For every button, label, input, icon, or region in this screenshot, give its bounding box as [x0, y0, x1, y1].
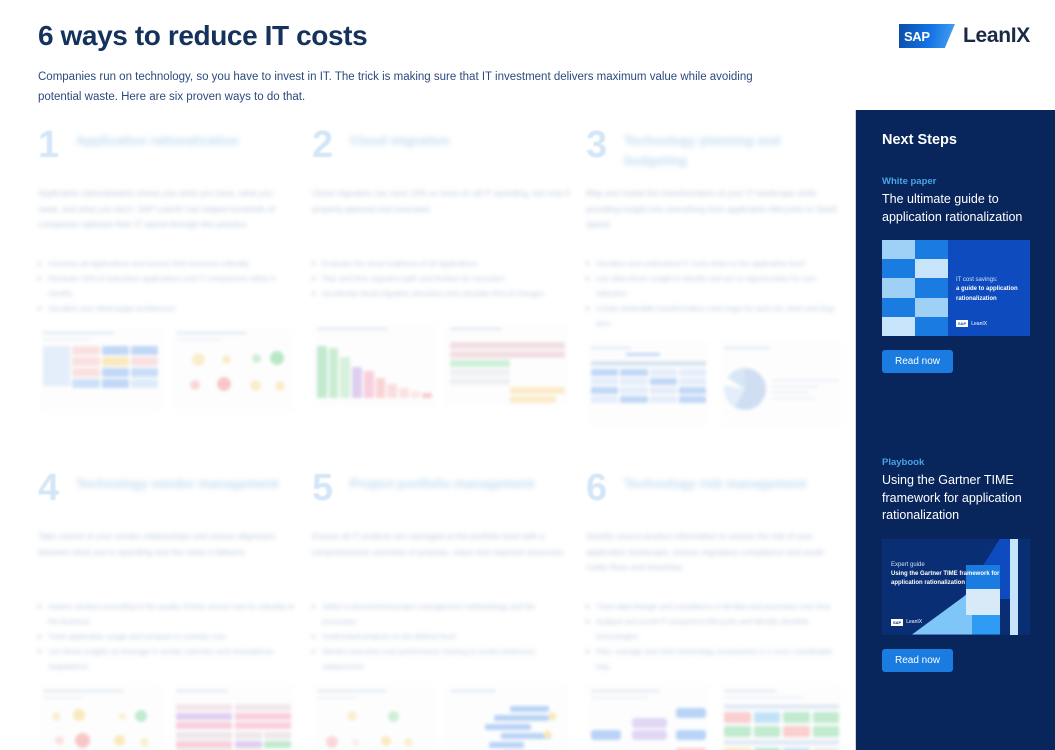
list-item: Create actionable transformation road ma… — [586, 301, 844, 331]
card-header: 2 Cloud migration — [312, 128, 570, 174]
list-item: Accelerate cloud migration decisions and… — [312, 286, 570, 301]
colored-table-chart — [445, 322, 570, 408]
card-bullet-list: Track data lineage and compliance of all… — [586, 599, 844, 674]
card-body-text: Quickly source product information to as… — [586, 529, 844, 587]
page-header: 6 ways to reduce IT costs Companies run … — [38, 20, 838, 107]
thumb-kicker: IT cost savings: — [956, 277, 998, 283]
list-item: Plan, manage and retire technology compo… — [586, 644, 844, 674]
thumbnail-logo: SAP LeanIX — [956, 320, 987, 327]
card-header: 4 Technology vendor management — [38, 471, 296, 517]
read-now-button-white-paper[interactable]: Read now — [882, 350, 953, 373]
list-item: Track data lineage and compliance of all… — [586, 599, 844, 614]
card-thumbnails — [38, 684, 296, 750]
card-title: Cloud migration — [350, 128, 450, 151]
card-thumbnails — [586, 341, 844, 427]
risk-flow-diagram — [586, 684, 711, 750]
thumb-kicker: Expert guide — [891, 562, 925, 568]
list-item: Plan and time migration path and timelin… — [312, 271, 570, 286]
risk-tile-board — [719, 684, 844, 750]
list-item: Track application usage and compare to c… — [38, 629, 296, 644]
card-number: 1 — [38, 128, 62, 162]
card-body-text: Ensure all IT projects are managed at th… — [312, 529, 570, 587]
project-bubble-chart — [312, 684, 437, 750]
card-bullet-list: Visualize and understand IT costs down t… — [586, 256, 844, 331]
list-item: Understand projects on the defined level — [312, 629, 570, 644]
list-item: Analyze and avoid IT component lifecycle… — [586, 614, 844, 644]
card-body-text: Take control of your vendor relationship… — [38, 529, 296, 587]
page-subtitle: Companies run on technology, so you have… — [38, 67, 798, 107]
pie-chart — [719, 341, 844, 427]
card-number: 5 — [312, 471, 336, 505]
playbook-thumbnail[interactable]: Expert guide Using the Gartner TIME fram… — [882, 539, 1030, 635]
card-technology-risk: 6 Technology risk management Quickly sou… — [586, 471, 844, 750]
roadmap-grid-chart — [586, 341, 711, 427]
read-now-button-playbook[interactable]: Read now — [882, 649, 953, 672]
sap-logo-mark: SAP — [899, 24, 955, 48]
infographic-page: 6 ways to reduce IT costs Companies run … — [0, 0, 1055, 750]
thumb-leanix-text: LeanIX — [906, 619, 922, 625]
cards-grid: 1 Application rationalization Applicatio… — [38, 128, 833, 750]
thumb-sap-mark: SAP — [956, 320, 968, 327]
thumb-title: a guide to application rationalization — [956, 285, 1030, 304]
card-body-text: Application rationalization shows you wh… — [38, 186, 296, 244]
thumbnail-logo: SAP LeanIX — [891, 619, 922, 626]
vendor-bubble-chart — [38, 684, 163, 750]
card-thumbnails — [312, 684, 570, 750]
list-item: Visualize and understand IT costs down t… — [586, 256, 844, 271]
list-item: Evaluate the cloud readiness of all appl… — [312, 256, 570, 271]
card-header: 6 Technology risk management — [586, 471, 844, 517]
sidebar-item-kicker: Playbook — [882, 457, 1029, 468]
sidebar-item-heading: The ultimate guide to application ration… — [882, 191, 1029, 226]
thumb-leanix-text: LeanIX — [971, 321, 987, 327]
card-thumbnails — [312, 322, 570, 408]
thumbnail-text: IT cost savings: a guide to application … — [956, 276, 1030, 304]
thumb-title: Using the Gartner TIME framework for app… — [891, 570, 1030, 589]
list-item: Use data-driven insight to identify and … — [586, 271, 844, 301]
card-header: 1 Application rationalization — [38, 128, 296, 174]
sidebar-item-playbook: Playbook Using the Gartner TIME framewor… — [882, 457, 1029, 672]
card-project-portfolio: 5 Project portfolio management Ensure al… — [312, 471, 570, 750]
list-item: Visualize your ideal target architecture — [38, 301, 296, 316]
vendor-block-matrix — [171, 684, 296, 750]
card-title: Technology planning and budgeting — [624, 128, 844, 170]
list-item: Inventory all applications and assess th… — [38, 256, 296, 271]
bubble-quadrant-chart — [171, 326, 296, 412]
gantt-timeline-chart — [445, 684, 570, 750]
card-bullet-list: Inventory all applications and assess th… — [38, 256, 296, 316]
sidebar-item-kicker: White paper — [882, 176, 1029, 187]
list-item: Assess vendors according to the quality … — [38, 599, 296, 629]
sap-logo-text: SAP — [899, 29, 930, 44]
sidebar-item-white-paper: White paper The ultimate guide to applic… — [882, 176, 1029, 373]
card-number: 3 — [586, 128, 610, 162]
card-number: 4 — [38, 471, 62, 505]
card-bullet-list: Assess vendors according to the quality … — [38, 599, 296, 674]
card-application-rationalization: 1 Application rationalization Applicatio… — [38, 128, 296, 427]
card-title: Technology risk management — [624, 471, 807, 494]
card-bullet-list: Evaluate the cloud readiness of all appl… — [312, 256, 570, 312]
card-header: 5 Project portfolio management — [312, 471, 570, 517]
thumbnail-text: Expert guide Using the Gartner TIME fram… — [891, 561, 1030, 589]
card-header: 3 Technology planning and budgeting — [586, 128, 844, 174]
list-item: Eliminate 10% of redundant applications … — [38, 271, 296, 301]
card-body-text: Map and model the transformation of your… — [586, 186, 844, 244]
white-paper-thumbnail[interactable]: IT cost savings: a guide to application … — [882, 240, 1030, 336]
sidebar-title: Next Steps — [882, 132, 1029, 148]
leanix-logo-text: LeanIX — [963, 24, 1030, 48]
card-technology-planning: 3 Technology planning and budgeting Map … — [586, 128, 844, 427]
card-title: Technology vendor management — [76, 471, 279, 494]
list-item: Monitor execution and performance tracki… — [312, 644, 570, 674]
card-body-text: Cloud migration can save 10% or more on … — [312, 186, 570, 244]
card-title: Application rationalization — [76, 128, 239, 151]
page-title: 6 ways to reduce IT costs — [38, 20, 838, 52]
next-steps-sidebar: Next Steps White paper The ultimate guid… — [855, 110, 1055, 750]
card-cloud-migration: 2 Cloud migration Cloud migration can sa… — [312, 128, 570, 427]
card-vendor-management: 4 Technology vendor management Take cont… — [38, 471, 296, 750]
list-item: Select a documented project management m… — [312, 599, 570, 629]
card-number: 6 — [586, 471, 610, 505]
application-matrix-chart — [38, 326, 163, 412]
sidebar-item-heading: Using the Gartner TIME framework for app… — [882, 472, 1029, 525]
card-title: Project portfolio management — [350, 471, 534, 494]
card-thumbnails — [38, 326, 296, 412]
list-item: Use these insights as leverage in vendor… — [38, 644, 296, 674]
descending-bar-chart — [312, 322, 437, 408]
card-number: 2 — [312, 128, 336, 162]
thumb-sap-mark: SAP — [891, 619, 903, 626]
card-thumbnails — [586, 684, 844, 750]
sap-leanix-logo: SAP LeanIX — [899, 24, 1030, 48]
card-bullet-list: Select a documented project management m… — [312, 599, 570, 674]
